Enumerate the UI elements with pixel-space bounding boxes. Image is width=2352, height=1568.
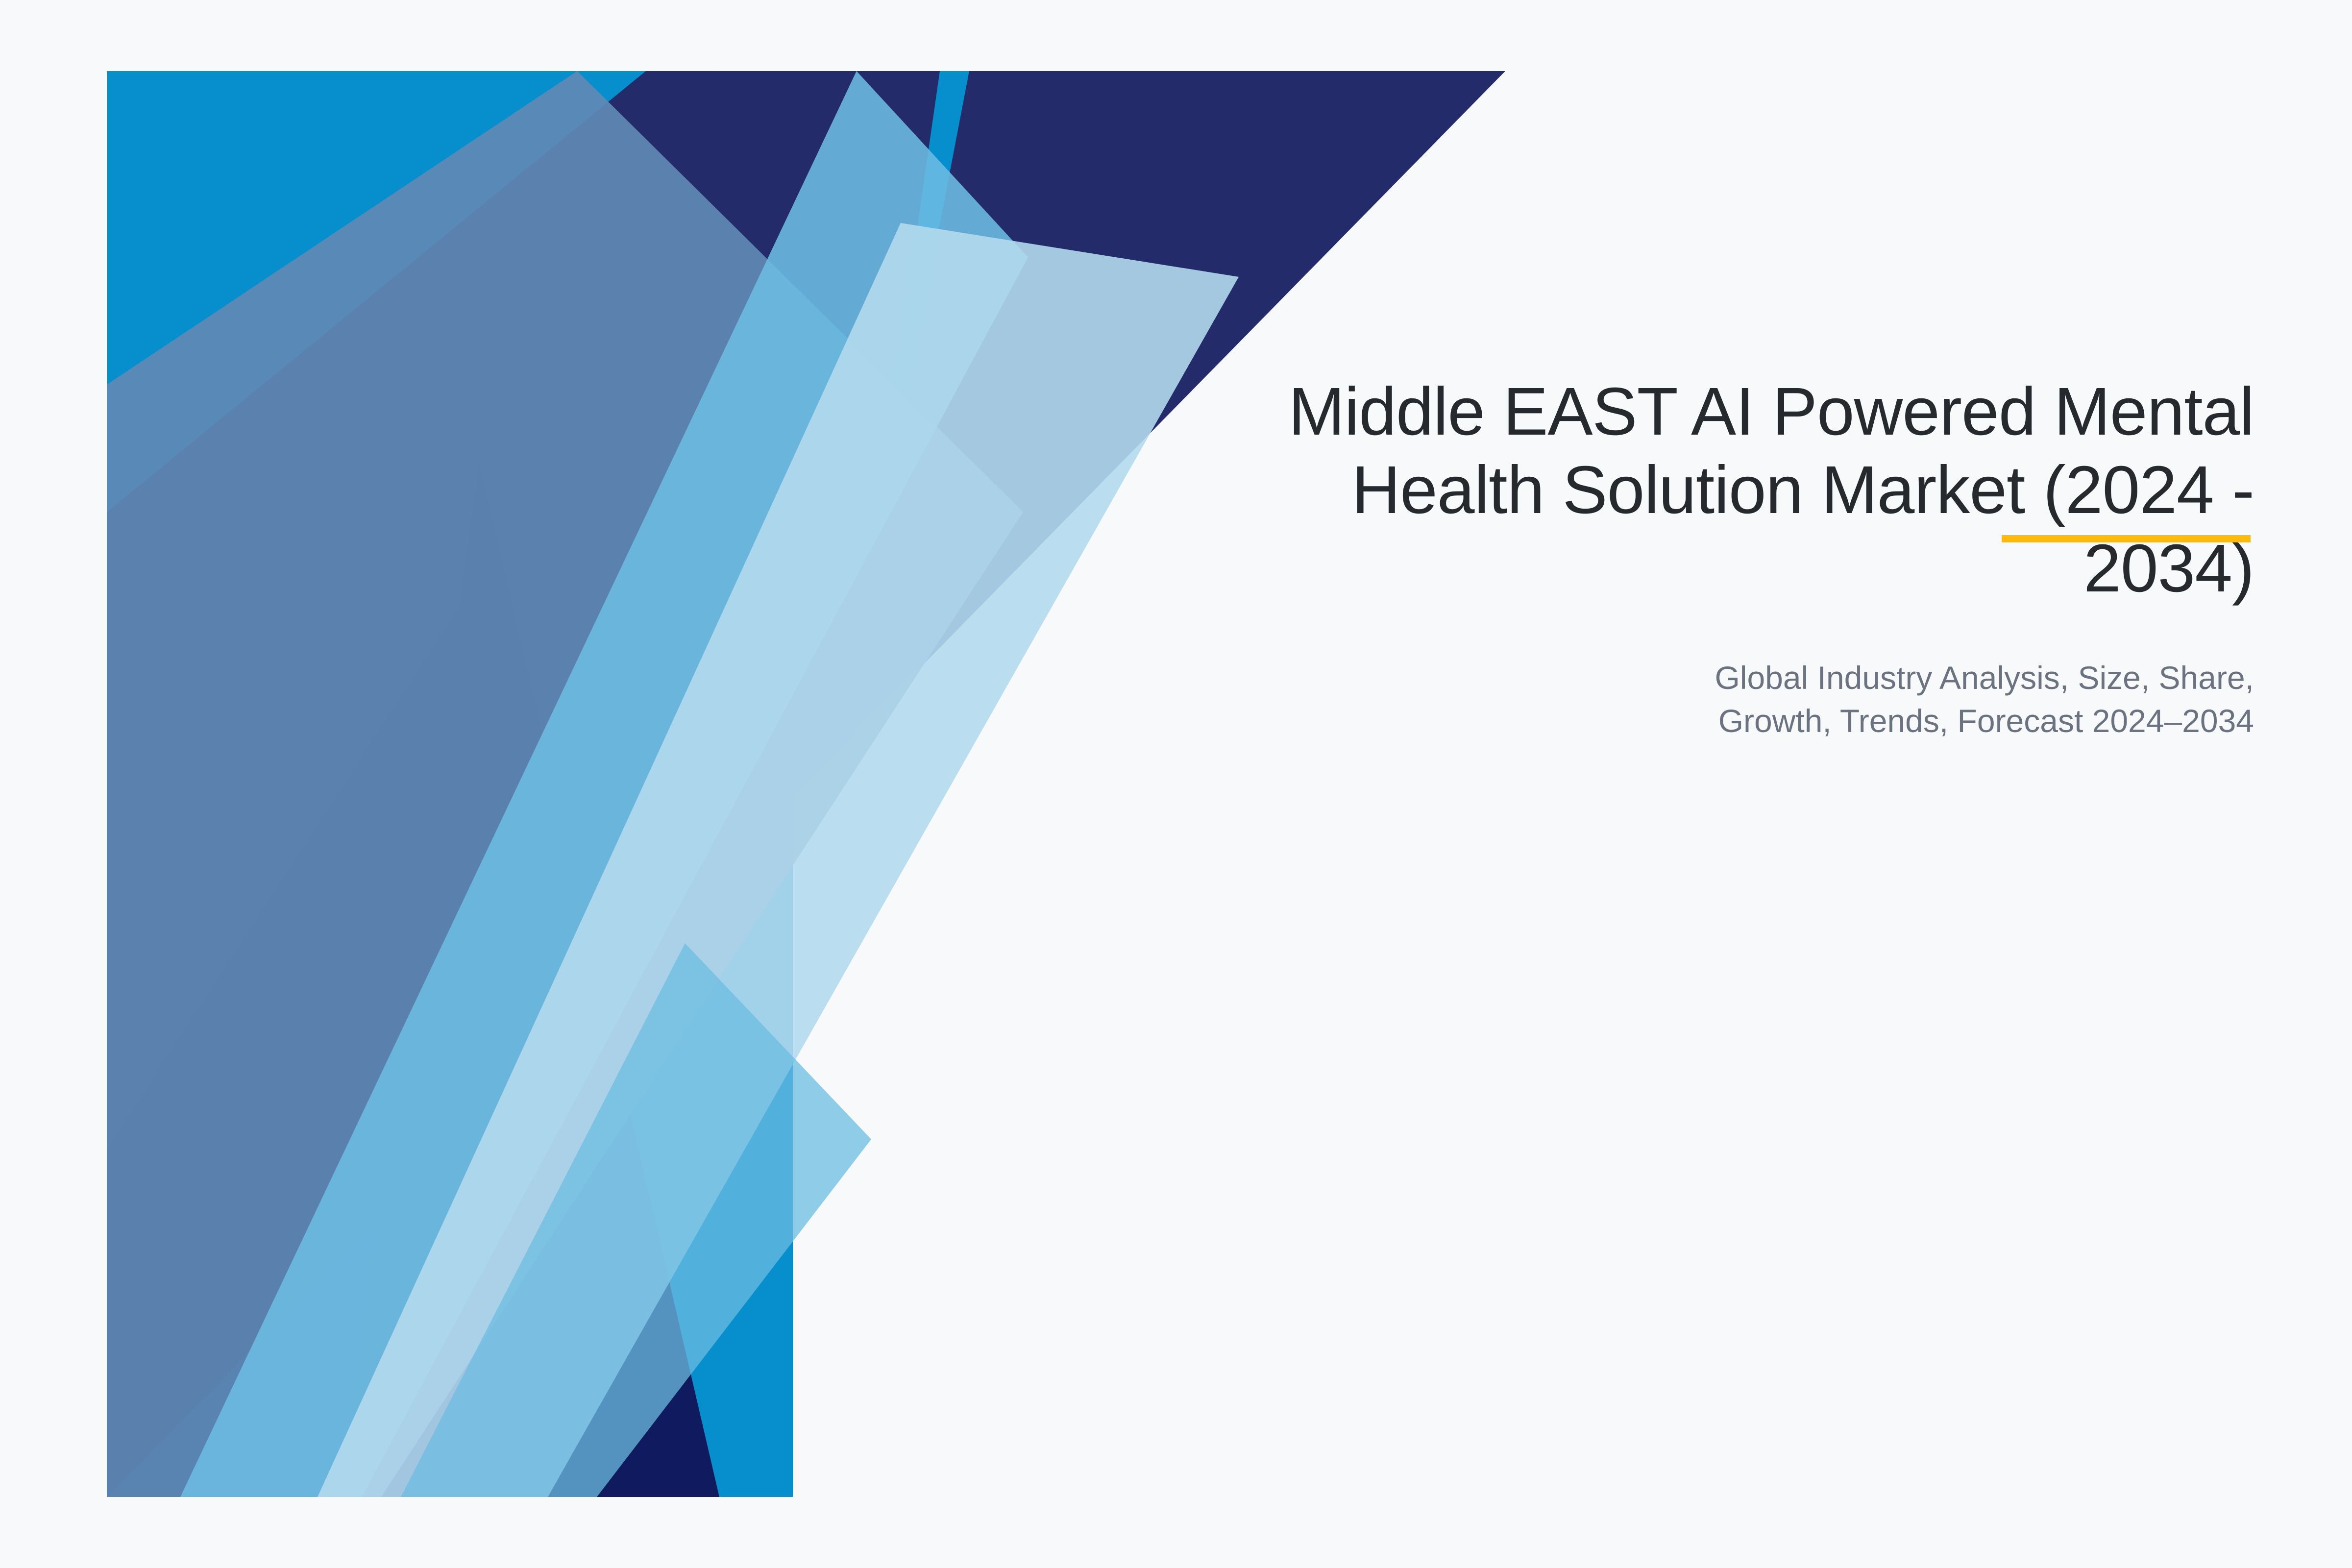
- abstract-geometric-graphic: [107, 71, 1505, 1497]
- cover-artwork-panel: [107, 71, 1505, 1497]
- title-underline-accent: [2002, 535, 2251, 542]
- page-title: Middle EAST AI Powered Mental Health Sol…: [980, 372, 2254, 608]
- title-block: Middle EAST AI Powered Mental Health Sol…: [980, 372, 2254, 608]
- page-subtitle: Global Industry Analysis, Size, Share, G…: [1274, 657, 2254, 743]
- cover-page: Middle EAST AI Powered Mental Health Sol…: [0, 0, 2352, 1568]
